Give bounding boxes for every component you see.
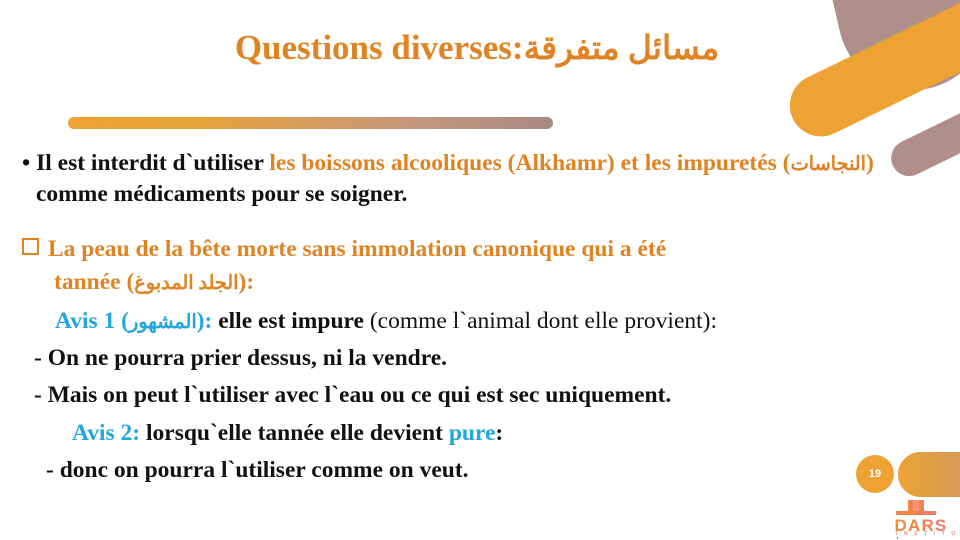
page-number-badge: 19 xyxy=(856,455,894,493)
dash-text-3: donc on pourra l`utiliser comme on veut. xyxy=(60,457,469,483)
dash-marker-1: - xyxy=(34,345,42,371)
block-item-2: La peau de la bête morte sans immolation… xyxy=(22,234,934,299)
footer-gradient-bar xyxy=(898,452,960,497)
bullet1-text-part1: Il est interdit d`utiliser xyxy=(36,150,269,176)
block2-line2-post: ): xyxy=(239,269,255,295)
slide: Questions diverses:مسائل متفرقة • Il est… xyxy=(0,0,960,540)
bullet1-text-arabic: النجاسات xyxy=(791,154,867,175)
bullet1-text-orange2: ) xyxy=(866,150,874,176)
dash-marker-2: - xyxy=(34,382,42,408)
avis2-tail: : xyxy=(495,420,503,446)
block2-line1: La peau de la bête morte sans immolation… xyxy=(48,236,666,262)
bullet1-text-part2: comme médicaments pour se soigner. xyxy=(36,181,407,207)
avis1-label-pre: Avis 1 ( xyxy=(55,308,129,334)
avis-1-line: Avis 1 (المشهور): elle est impure (comme… xyxy=(22,306,934,337)
bullet1-text-orange1: les boissons alcooliques (Alkhamr) et le… xyxy=(269,150,790,176)
title-divider-bar xyxy=(68,117,553,129)
slide-title-french: Questions diverses: xyxy=(235,28,524,67)
avis2-label: Avis 2: xyxy=(72,420,140,446)
slide-title: Questions diverses:مسائل متفرقة xyxy=(0,28,960,68)
slide-title-arabic: مسائل متفرقة xyxy=(524,31,720,67)
dash-item-1: - On ne pourra prier dessus, ni la vendr… xyxy=(22,343,934,374)
bullet-dot-icon: • xyxy=(22,150,30,176)
avis1-label-arabic: المشهور xyxy=(129,312,197,333)
dash-text-2: Mais on peut l`utiliser avec l`eau ou ce… xyxy=(48,382,672,408)
square-outline-bullet-icon xyxy=(22,238,39,255)
block2-line2-pre: tannée ( xyxy=(54,269,134,295)
block2-line2: tannée (الجلد المدبوغ): xyxy=(22,267,934,298)
avis2-mid-text: lorsqu`elle tannée elle devient xyxy=(140,420,449,446)
dash-item-3: - donc on pourra l`utiliser comme on veu… xyxy=(22,455,934,486)
avis1-label-post: ): xyxy=(197,308,213,334)
dash-item-2: - Mais on peut l`utiliser avec l`eau ou … xyxy=(22,380,934,411)
avis-2-line: Avis 2: lorsqu`elle tannée elle devient … xyxy=(22,418,934,449)
dars-logo-tagline: I N S T I T U T xyxy=(896,531,960,540)
block2-line2-arabic: الجلد المدبوغ xyxy=(134,273,238,294)
avis1-regular-text: (comme l`animal dont elle provient): xyxy=(370,308,717,334)
dash-marker-3: - xyxy=(46,457,54,483)
bullet-item-1: • Il est interdit d`utiliser les boisson… xyxy=(22,148,934,210)
slide-body: • Il est interdit d`utiliser les boisson… xyxy=(22,148,934,485)
avis2-highlight-pure: pure xyxy=(449,420,496,446)
dash-text-1: On ne pourra prier dessus, ni la vendre. xyxy=(48,345,447,371)
avis1-bold-text: elle est impure xyxy=(212,308,370,334)
